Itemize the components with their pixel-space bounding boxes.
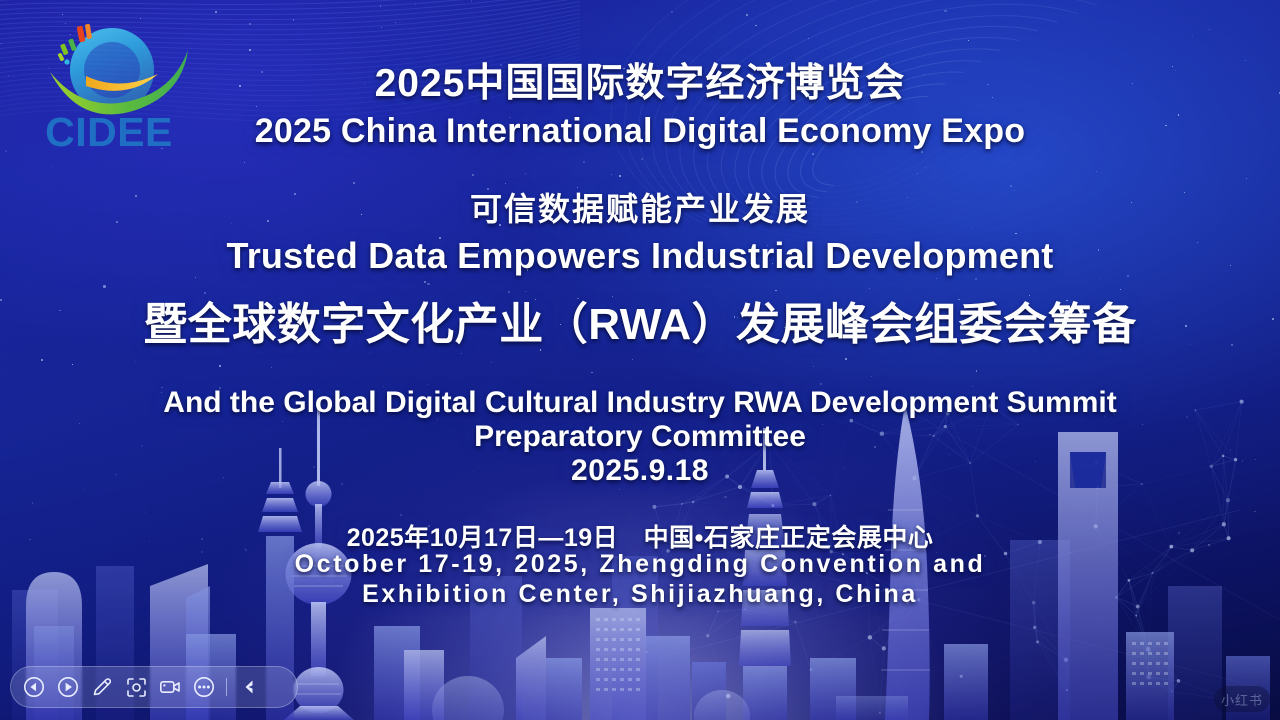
video-camera-icon (158, 675, 182, 699)
circle-left-triangle-icon (23, 676, 45, 698)
expo-title-en: 2025 China International Digital Economy… (0, 112, 1280, 150)
expo-theme-en: Trusted Data Empowers Industrial Develop… (0, 236, 1280, 276)
play-slide-button[interactable] (51, 670, 85, 704)
previous-slide-button[interactable] (17, 670, 51, 704)
toolbar-divider (226, 678, 227, 696)
chevron-left-icon (237, 675, 261, 699)
summit-title-en-l1: And the Global Digital Cultural Industry… (0, 386, 1280, 420)
venue-line-en-l1: October 17-19, 2025, Zhengding Conventio… (0, 550, 1280, 578)
app-watermark: 小红书 (1214, 686, 1270, 712)
summit-date: 2025.9.18 (0, 454, 1280, 488)
venue-line-cn: 2025年10月17日—19日 中国•石家庄正定会展中心 (0, 524, 1280, 552)
venue-line-en-l2: Exhibition Center, Shijiazhuang, China (0, 580, 1280, 608)
more-options-button[interactable] (187, 670, 221, 704)
focus-brackets-icon (125, 676, 148, 699)
summit-title-en-l2: Preparatory Committee (0, 420, 1280, 454)
pen-icon (90, 675, 114, 699)
summit-title-cn: 暨全球数字文化产业（RWA）发展峰会组委会筹备 (0, 300, 1280, 349)
expo-title-cn: 2025中国国际数字经济博览会 (0, 62, 1280, 106)
laser-pointer-button[interactable] (119, 670, 153, 704)
presenter-toolbar[interactable] (10, 666, 298, 708)
pen-tool-button[interactable] (85, 670, 119, 704)
record-video-button[interactable] (153, 670, 187, 704)
circle-right-triangle-icon (57, 676, 79, 698)
presentation-slide: CIDEE 2025中国国际数字经济博览会 2025 China Interna… (0, 0, 1280, 720)
collapse-toolbar-button[interactable] (232, 670, 266, 704)
circle-ellipsis-icon (193, 676, 215, 698)
expo-theme-cn: 可信数据赋能产业发展 (0, 192, 1280, 228)
